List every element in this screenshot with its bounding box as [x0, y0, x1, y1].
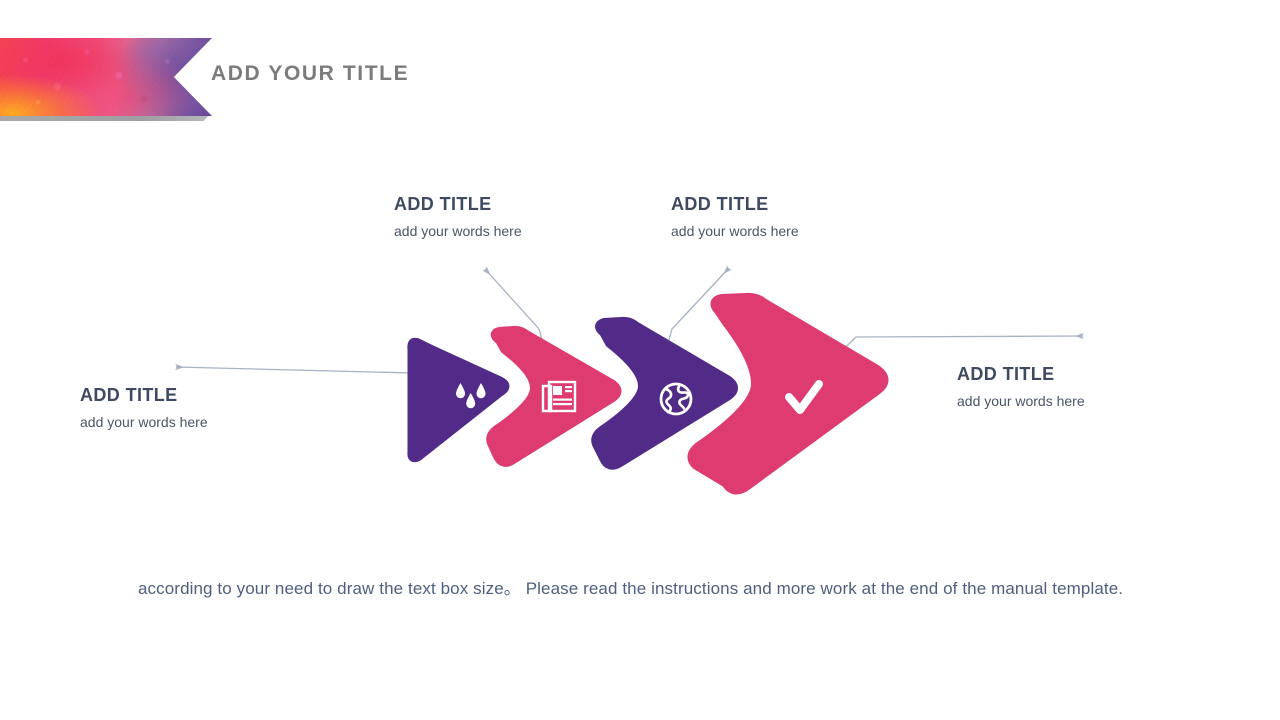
step-label-4: ADD TITLE add your words here [957, 364, 1085, 412]
step-label-3: ADD TITLE add your words here [671, 194, 799, 242]
slide-canvas: ADD YOUR TITLE [0, 0, 1280, 720]
step-label-3-title: ADD TITLE [671, 194, 799, 215]
step-label-2: ADD TITLE add your words here [394, 194, 522, 242]
body-paragraph: according to your need to draw the text … [138, 574, 1138, 604]
connector-line-1 [176, 367, 442, 404]
step-label-1-title: ADD TITLE [80, 385, 208, 406]
step-label-4-title: ADD TITLE [957, 364, 1085, 385]
step-label-1-subtitle: add your words here [80, 412, 208, 433]
step-label-3-subtitle: add your words here [671, 221, 799, 242]
step-label-1: ADD TITLE add your words here [80, 385, 208, 433]
step-label-2-subtitle: add your words here [394, 221, 522, 242]
step-label-4-subtitle: add your words here [957, 391, 1085, 412]
process-arrow-diagram [0, 0, 1280, 720]
step-label-2-title: ADD TITLE [394, 194, 522, 215]
